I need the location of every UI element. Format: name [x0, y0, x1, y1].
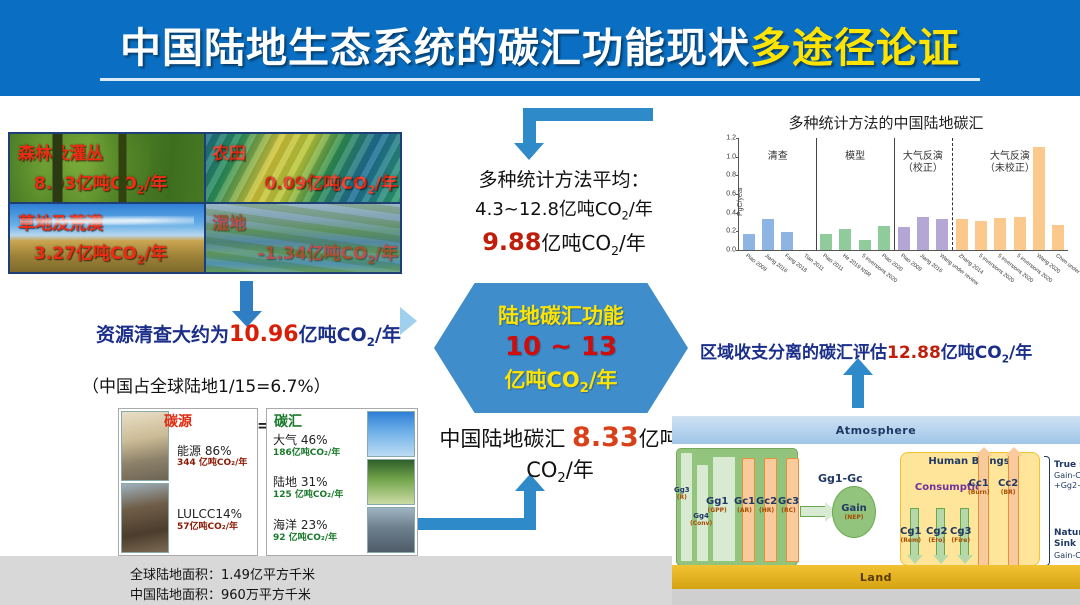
chart-xtick-labels: Piao 2009Jiang 2016Fang 2018Tian 2011Pia…	[738, 251, 1068, 297]
hexagon-shape: 陆地碳汇功能 10 ~ 13 亿吨CO2/年	[434, 283, 688, 413]
photo-wetland-value: -1.34亿吨CO2/年	[258, 239, 398, 266]
gain-nep-node: Gain(NEP)	[832, 486, 876, 538]
chart-ytick-mark	[736, 194, 739, 195]
photo-grassland: 草地及荒漠 3.27亿吨CO2/年	[10, 204, 204, 272]
arrow-sourcesink-to-sink-stem	[524, 490, 536, 530]
chart-ytick: 1.2	[726, 135, 736, 142]
sink-item-land: 陆地 31% 125 亿吨CO₂/年	[273, 476, 362, 500]
flow-tag-cc2: Cc2(BR)	[998, 478, 1018, 496]
photo-wetland-label: 湿地	[212, 209, 246, 234]
china-land-area: 中国陆地面积：960万平方千米	[130, 586, 470, 605]
hexagon-line1: 陆地碳汇功能	[498, 300, 624, 330]
photo-forest: 森林及灌丛 8.93亿吨CO2/年	[10, 134, 204, 202]
eco-to-gain-arrow	[800, 506, 826, 517]
multi-method-average: 多种统计方法平均： 4.3~12.8亿吨CO2/年 9.88亿吨CO2/年	[440, 165, 688, 258]
flow-tag-gg1: Gg1(GPP)	[706, 496, 728, 514]
chart-bar	[781, 232, 793, 250]
sink-item-ocean-label: 海洋 23%	[273, 519, 362, 533]
eco-col-gg3	[680, 452, 693, 562]
true-sink-body: Gain-Cc +Gg2+Gg3+Gg4	[1054, 471, 1080, 491]
source-item-lulcc-label: LULCC14%	[177, 508, 254, 522]
sink-images	[365, 409, 417, 555]
carbon-source-title: 碳源	[164, 411, 192, 431]
chart-bar	[839, 229, 851, 250]
chart-ytick-mark	[736, 231, 739, 232]
slide-root: 中国陆地生态系统的碳汇功能现状多途径论证 森林及灌丛 8.93亿吨CO2/年 农…	[0, 0, 1080, 605]
arrow-flow-to-regional-stem	[852, 374, 864, 408]
forest-photo	[367, 459, 415, 505]
chart-ytick: 0.0	[726, 247, 736, 254]
smokestack-photo	[121, 411, 169, 481]
mountain-photo	[367, 507, 415, 553]
natural-sink-title: Natural Sink	[1054, 528, 1080, 549]
page-title-main: 中国陆地生态系统的碳汇功能现状	[120, 24, 750, 72]
methods-bar-chart: 多种统计方法的中国陆地碳汇 PgC/year 0.00.20.40.60.81.…	[700, 112, 1072, 297]
arrow-chart-to-average-riser	[523, 108, 536, 146]
flow-bottom-strip	[672, 589, 1080, 605]
chart-bar	[917, 217, 929, 250]
chart-ytick-mark	[736, 213, 739, 214]
sky-photo	[367, 411, 415, 457]
page-title: 中国陆地生态系统的碳汇功能现状多途径论证	[0, 14, 1080, 74]
chart-bar	[878, 226, 890, 250]
chart-bar	[994, 218, 1006, 250]
chart-ytick: 0.2	[726, 228, 736, 235]
flow-tag-cc1: Cc1(Burn)	[968, 478, 990, 496]
global-land-area: 全球陆地面积：1.49亿平方千米	[130, 566, 470, 586]
photo-wetland: 湿地 -1.34亿吨CO2/年	[206, 204, 400, 272]
hexagon-range: 10 ~ 13	[505, 332, 617, 362]
chart-group-label: 大气反演 （校正）	[894, 151, 952, 174]
land-area-notes: 全球陆地面积：1.49亿平方千米 中国陆地面积：960万平方千米	[130, 566, 470, 605]
source-item-lulcc: LULCC14% 57亿吨CO₂/年	[177, 508, 254, 532]
regional-assessment-stat: 区域收支分离的碳汇评估12.88亿吨CO2/年	[700, 338, 1080, 365]
chart-bar	[859, 240, 871, 250]
title-underline	[100, 78, 980, 81]
sink-item-atmosphere: 大气 46% 186亿吨CO₂/年	[273, 434, 362, 458]
chart-group-label: 模型	[816, 151, 893, 163]
flow-tag-gg4: Gg4(Conv)	[690, 512, 712, 527]
chart-bar	[936, 219, 948, 250]
ecosystem-photo-grid: 森林及灌丛 8.93亿吨CO2/年 农田 0.09亿吨CO2/年 草地及荒漠 3…	[8, 132, 402, 274]
atmosphere-band: Atmosphere	[672, 416, 1080, 444]
natural-sink-note: Natural Sink Gain-Cg	[1054, 528, 1080, 561]
arrow-down-inventory	[240, 281, 253, 313]
true-sink-note: True sink Gain-Cc +Gg2+Gg3+Gg4	[1054, 460, 1080, 491]
chart-bar	[975, 221, 987, 250]
flow-tag-gg1-gc: Gg1-Gc	[818, 472, 863, 485]
carbon-flow-diagram: Atmosphere Gg3(R) Gg4(Conv) Gg1(GPP) Gc1…	[672, 408, 1080, 605]
chart-ytick: 1.0	[726, 153, 736, 160]
human-beings-box	[900, 452, 1040, 566]
source-item-energy: 能源 86% 344 亿吨CO₂/年	[177, 445, 254, 469]
chart-ytick: 0.6	[726, 191, 736, 198]
page-title-accent: 多途径论证	[750, 24, 960, 72]
chart-group-label: 清查	[739, 151, 816, 163]
flow-tag-gg3: Gg3(R)	[674, 486, 690, 501]
flow-tag-cg2: Cg2(Ero)	[926, 526, 947, 544]
sink-item-land-value: 125 亿吨CO₂/年	[273, 490, 362, 500]
chart-ytick-mark	[736, 175, 739, 176]
flow-tag-gc3: Gc3(RC)	[778, 496, 799, 514]
average-range: 4.3~12.8亿吨CO2/年	[440, 195, 688, 223]
photo-forest-label: 森林及灌丛	[18, 139, 103, 164]
chart-ytick-mark	[736, 138, 739, 139]
hexagon-unit: 亿吨CO2/年	[505, 364, 618, 396]
sink-item-land-label: 陆地 31%	[273, 476, 362, 490]
chart-bar	[956, 219, 968, 250]
carbon-source-sink-panel: 能源 86% 344 亿吨CO₂/年 LULCC14% 57亿吨CO₂/年 碳源…	[118, 408, 418, 556]
photo-farmland-value: 0.09亿吨CO2/年	[265, 169, 398, 196]
terrestrial-sink-hexagon: 陆地碳汇功能 10 ~ 13 亿吨CO2/年	[434, 283, 688, 413]
sink-item-ocean-value: 92 亿吨CO₂/年	[273, 533, 362, 543]
carbon-sink-title: 碳汇	[274, 411, 302, 431]
sink-bracket	[1044, 456, 1050, 566]
photo-grassland-value: 3.27亿吨CO2/年	[34, 239, 167, 266]
average-value: 9.88亿吨CO2/年	[440, 227, 688, 258]
china-terrestrial-sink-stat: 中国陆地碳汇 8.33亿吨 CO2/年	[425, 420, 695, 488]
chart-bar	[743, 234, 755, 250]
flow-tag-cg1: Cg1(Rem)	[900, 526, 921, 544]
average-caption: 多种统计方法平均：	[440, 165, 688, 192]
sink-item-ocean: 海洋 23% 92 亿吨CO₂/年	[273, 519, 362, 543]
photo-farmland: 农田 0.09亿吨CO2/年	[206, 134, 400, 202]
china-land-share-note: （中国占全球陆地1/15=6.7%）	[82, 372, 412, 397]
logging-photo	[121, 483, 169, 553]
source-item-energy-value: 344 亿吨CO₂/年	[177, 458, 254, 468]
chart-plot-area: PgC/year 0.00.20.40.60.81.01.2清查模型大气反演 （…	[738, 138, 1068, 251]
true-sink-title: True sink	[1054, 460, 1080, 470]
flow-tag-gc2: Gc2(HR)	[756, 496, 777, 514]
arrow-chart-to-average-head	[514, 143, 544, 160]
chart-ytick: 0.4	[726, 209, 736, 216]
chart-group-label: 大气反演 （未校正）	[952, 151, 1068, 174]
chart-ytick: 0.8	[726, 172, 736, 179]
photo-forest-value: 8.93亿吨CO2/年	[34, 169, 167, 196]
chart-bar	[1052, 225, 1064, 250]
photo-farmland-label: 农田	[212, 139, 246, 164]
flow-arrow-cc1	[978, 454, 989, 566]
source-item-lulcc-value: 57亿吨CO₂/年	[177, 522, 254, 532]
flow-arrow-cc2	[1008, 454, 1019, 566]
chart-bar	[1014, 217, 1026, 250]
title-banner: 中国陆地生态系统的碳汇功能现状多途径论证	[0, 0, 1080, 96]
chart-title: 多种统计方法的中国陆地碳汇	[700, 112, 1072, 133]
flow-tag-cg3: Cg3(Fire)	[950, 526, 971, 544]
natural-sink-body: Gain-Cg	[1054, 551, 1080, 561]
source-item-energy-label: 能源 86%	[177, 445, 254, 459]
chart-bar	[762, 219, 774, 250]
land-band: Land	[672, 565, 1080, 589]
inventory-stat: 资源清查大约为10.96亿吨CO2/年	[96, 320, 426, 349]
arrow-chart-to-average-stem	[523, 108, 653, 121]
chart-bar	[820, 234, 832, 250]
chart-bar	[898, 227, 910, 250]
sink-item-atmosphere-label: 大气 46%	[273, 434, 362, 448]
sink-item-atmosphere-value: 186亿吨CO₂/年	[273, 448, 362, 458]
flow-tag-gc1: Gc1(AR)	[734, 496, 755, 514]
photo-grassland-label: 草地及荒漠	[18, 209, 103, 234]
